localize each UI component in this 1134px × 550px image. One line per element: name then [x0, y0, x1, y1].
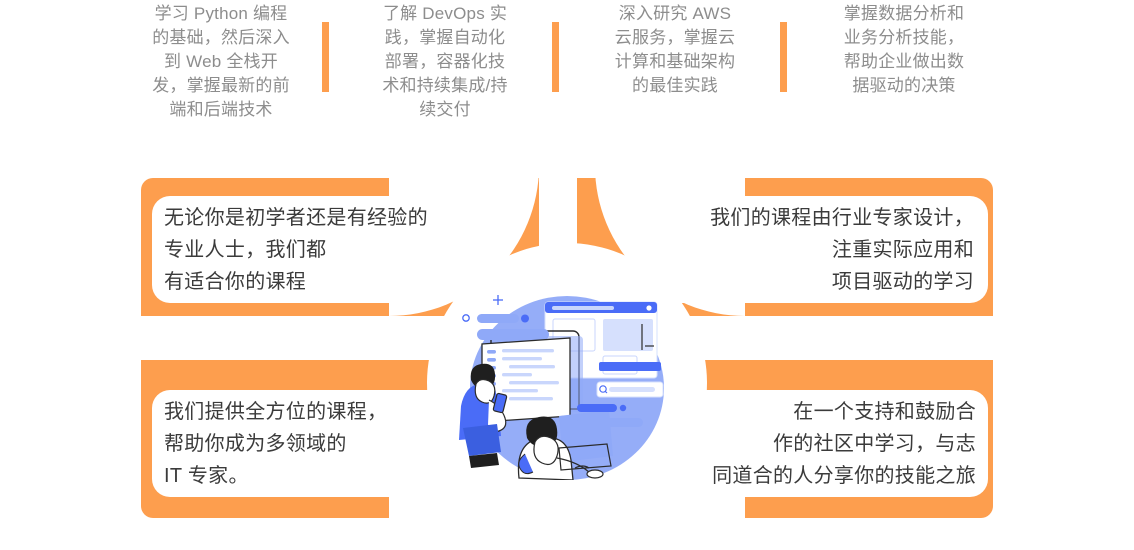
column-divider-2 — [552, 22, 559, 92]
team-coding-illustration — [449, 288, 675, 480]
highlight-card-text: 无论你是初学者还是有经验的 专业人士，我们都 有适合你的课程 — [164, 202, 432, 298]
feature-text: 了解 DevOps 实 践，掌握自动化 部署，容器化技 术和持续集成/持 续交付 — [338, 2, 552, 122]
feature-column-devops: 了解 DevOps 实 践，掌握自动化 部署，容器化技 术和持续集成/持 续交付 — [338, 0, 552, 122]
feature-column-aws-cloud: 深入研究 AWS 云服务，掌握云 计算和基础架构 的最佳实践 — [574, 0, 776, 98]
column-divider-1 — [322, 22, 329, 92]
highlight-card-text: 我们提供全方位的课程， 帮助你成为多领域的 IT 专家。 — [164, 396, 450, 492]
column-divider-3 — [780, 22, 787, 92]
feature-column-python-fullstack: 学习 Python 编程 的基础，然后深入 到 Web 全栈开 发，掌握最新的前… — [110, 0, 332, 122]
feature-strip: 学习 Python 编程 的基础，然后深入 到 Web 全栈开 发，掌握最新的前… — [0, 0, 1134, 130]
feature-text: 掌握数据分析和 业务分析技能， 帮助企业做出数 据驱动的决策 — [804, 2, 1004, 98]
feature-text: 学习 Python 编程 的基础，然后深入 到 Web 全栈开 发，掌握最新的前… — [110, 2, 332, 122]
highlight-card-top-left: 无论你是初学者还是有经验的 专业人士，我们都 有适合你的课程 — [152, 196, 432, 303]
highlight-card-bottom-left: 我们提供全方位的课程， 帮助你成为多领域的 IT 专家。 — [152, 390, 450, 497]
highlight-card-top-right: 我们的课程由行业专家设计， 注重实际应用和 项目驱动的学习 — [630, 196, 988, 303]
feature-text: 深入研究 AWS 云服务，掌握云 计算和基础架构 的最佳实践 — [574, 2, 776, 98]
highlight-card-text: 我们的课程由行业专家设计， 注重实际应用和 项目驱动的学习 — [630, 202, 974, 298]
feature-column-data-analytics: 掌握数据分析和 业务分析技能， 帮助企业做出数 据驱动的决策 — [804, 0, 1004, 98]
